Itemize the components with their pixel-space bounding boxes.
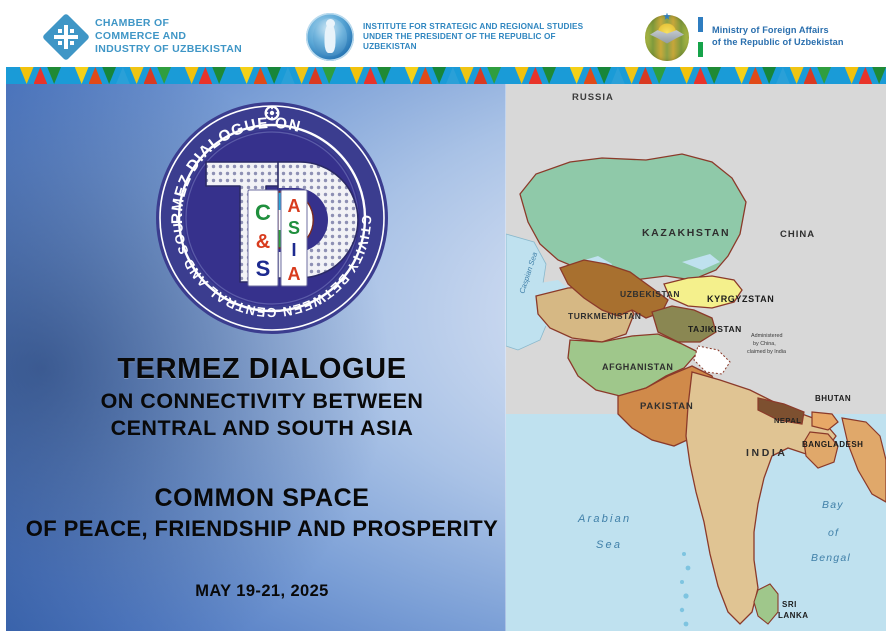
- org-chamber-of-commerce-text: CHAMBER OF COMMERCE AND INDUSTRY OF UZBE…: [95, 17, 242, 55]
- map-water-label: Sea: [596, 539, 622, 551]
- ornament-cell: [776, 67, 804, 84]
- ornament-cell: [529, 67, 557, 84]
- uzbekistan-coat-of-arms-icon: [644, 13, 690, 61]
- ornament-cell: [666, 67, 694, 84]
- ornament-cell: [611, 67, 639, 84]
- map-country-label: TAJIKISTAN: [688, 324, 742, 334]
- page-title: TERMEZ DIALOGUE: [6, 354, 518, 385]
- ornament-cell: [171, 67, 199, 84]
- map-water-label: Bengal: [811, 552, 851, 564]
- title-subline-one: ON CONNECTIVITY BETWEEN: [6, 388, 518, 416]
- map-water-label: Bay: [822, 499, 844, 511]
- ornament-cell: [446, 67, 474, 84]
- org-line: Ministry of Foreign Affairs: [712, 25, 844, 36]
- map-country-label: INDIA: [746, 447, 788, 459]
- ornament-cell: [501, 67, 529, 84]
- diamond-ornament-icon: [46, 17, 86, 57]
- map-country-label: BANGLADESH: [802, 440, 863, 449]
- ornament-cell: [556, 67, 584, 84]
- svg-text:C: C: [255, 200, 271, 225]
- ornament-cell: [226, 67, 254, 84]
- ornament-cell: [364, 67, 392, 84]
- map-country-label: KAZAKHSTAN: [642, 227, 730, 239]
- ornament-cell: [831, 67, 859, 84]
- map-water-label: Arabian: [577, 513, 631, 525]
- ornament-cell: [34, 67, 62, 84]
- map-annotation-label: Administered: [751, 333, 782, 339]
- map-annotation-label: by China,: [753, 341, 776, 347]
- org-isrs-text: INSTITUTE FOR STRATEGIC AND REGIONAL STU…: [363, 22, 583, 52]
- org-line: CHAMBER OF: [95, 17, 242, 30]
- ornament-cell: [144, 67, 172, 84]
- ornament-cell: [281, 67, 309, 84]
- ornament-cell: [749, 67, 777, 84]
- ornament-cell: [6, 67, 34, 84]
- ornament-cell: [859, 67, 887, 84]
- map-country-label: NEPAL: [774, 416, 801, 425]
- ornament-cell: [309, 67, 337, 84]
- org-line: of the Republic of Uzbekistan: [712, 37, 844, 48]
- title-subline-two: CENTRAL AND SOUTH ASIA: [6, 415, 518, 443]
- ornament-cell: [584, 67, 612, 84]
- svg-text:S: S: [288, 218, 300, 238]
- tagline-subheading: OF PEACE, FRIENDSHIP AND PROSPERITY: [6, 516, 518, 542]
- ornament-cell: [639, 67, 667, 84]
- org-institute-strategic-regional-studies: INSTITUTE FOR STRATEGIC AND REGIONAL STU…: [296, 13, 626, 61]
- ornament-cell: [391, 67, 419, 84]
- map-country-label: TURKMENISTAN: [568, 311, 641, 321]
- emblem-star-ornament: [265, 106, 280, 121]
- ornament-cell: [336, 67, 364, 84]
- map-country-label: CHINA: [780, 229, 815, 240]
- svg-text:A: A: [288, 264, 301, 284]
- org-line: COMMERCE AND: [95, 30, 242, 43]
- ornament-cell: [89, 67, 117, 84]
- map-country-label: SRI: [782, 600, 797, 609]
- poster-main-stage: TERMEZ DIALOGUE ON CONNECTIVITY BETWEEN …: [6, 84, 886, 631]
- map-country-label: AFGHANISTAN: [602, 362, 673, 372]
- event-date: MAY 19-21, 2025: [6, 582, 518, 601]
- ornament-cell: [419, 67, 447, 84]
- emblem-badge-cs: C & S: [248, 190, 278, 286]
- ornament-cell: [474, 67, 502, 84]
- emblem-badge-asia: A S I A: [281, 190, 307, 286]
- svg-text:I: I: [291, 240, 296, 260]
- svg-text:A: A: [288, 196, 301, 216]
- org-line: UNDER THE PRESIDENT OF THE REPUBLIC OF: [363, 32, 583, 42]
- ornament-cell: [694, 67, 722, 84]
- map-annotation-label: claimed by India: [747, 349, 786, 355]
- map-country-label: BHUTAN: [815, 394, 851, 403]
- institute-globe-icon: [306, 13, 354, 61]
- svg-text:S: S: [256, 256, 271, 281]
- map-country-label: LANKA: [778, 611, 809, 620]
- title-block: TERMEZ DIALOGUE ON CONNECTIVITY BETWEEN …: [6, 354, 518, 601]
- sponsor-logo-bar: CHAMBER OF COMMERCE AND INDUSTRY OF UZBE…: [6, 6, 886, 67]
- flag-accent-bars-icon: [698, 17, 703, 57]
- svg-text:&: &: [256, 231, 270, 253]
- map-country-label: RUSSIA: [572, 92, 614, 103]
- ornament-cell: [254, 67, 282, 84]
- org-mfa-text: Ministry of Foreign Affairs of the Repub…: [712, 25, 844, 47]
- uzbek-ikat-triangle-band: [6, 67, 886, 84]
- org-line: INSTITUTE FOR STRATEGIC AND REGIONAL STU…: [363, 22, 583, 32]
- map-country-label: UZBEKISTAN: [620, 289, 680, 299]
- ornament-cell: [199, 67, 227, 84]
- org-line: UZBEKISTAN: [363, 42, 583, 52]
- map-country-label: KYRGYZSTAN: [707, 294, 774, 304]
- ornament-cell: [721, 67, 749, 84]
- org-chamber-of-commerce: CHAMBER OF COMMERCE AND INDUSTRY OF UZBE…: [6, 17, 296, 57]
- map-water-label: of: [828, 527, 839, 539]
- termez-dialogue-emblem: TERMEZ DIALOGUE ON CONNECTIVITY BETWEEN …: [154, 100, 390, 336]
- poster-canvas: CHAMBER OF COMMERCE AND INDUSTRY OF UZBE…: [0, 0, 892, 637]
- org-ministry-of-foreign-affairs: Ministry of Foreign Affairs of the Repub…: [626, 13, 876, 61]
- ornament-cell: [116, 67, 144, 84]
- org-line: INDUSTRY OF UZBEKISTAN: [95, 43, 242, 56]
- tagline-heading: COMMON SPACE: [6, 485, 518, 513]
- ornament-cell: [61, 67, 89, 84]
- ornament-cell: [804, 67, 832, 84]
- map-country-label: PAKISTAN: [640, 401, 694, 412]
- central-and-south-asia-map: RUSSIAKAZAKHSTANCHINAUZBEKISTANKYRGYZSTA…: [506, 84, 886, 631]
